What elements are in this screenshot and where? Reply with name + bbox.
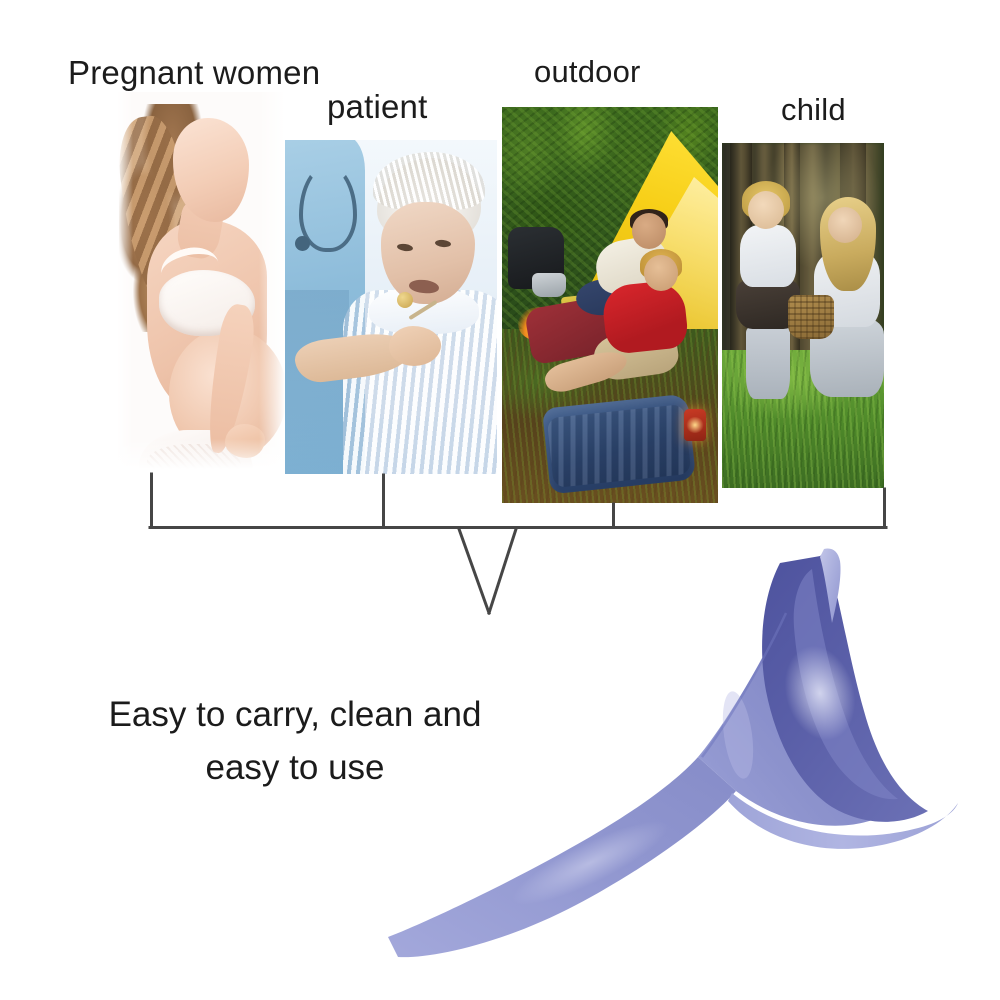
product-image-urination-funnel xyxy=(380,545,980,975)
product-infographic: Pregnant women patient outdoor child xyxy=(0,0,1000,1000)
funnel-gloss-spout xyxy=(504,807,676,918)
